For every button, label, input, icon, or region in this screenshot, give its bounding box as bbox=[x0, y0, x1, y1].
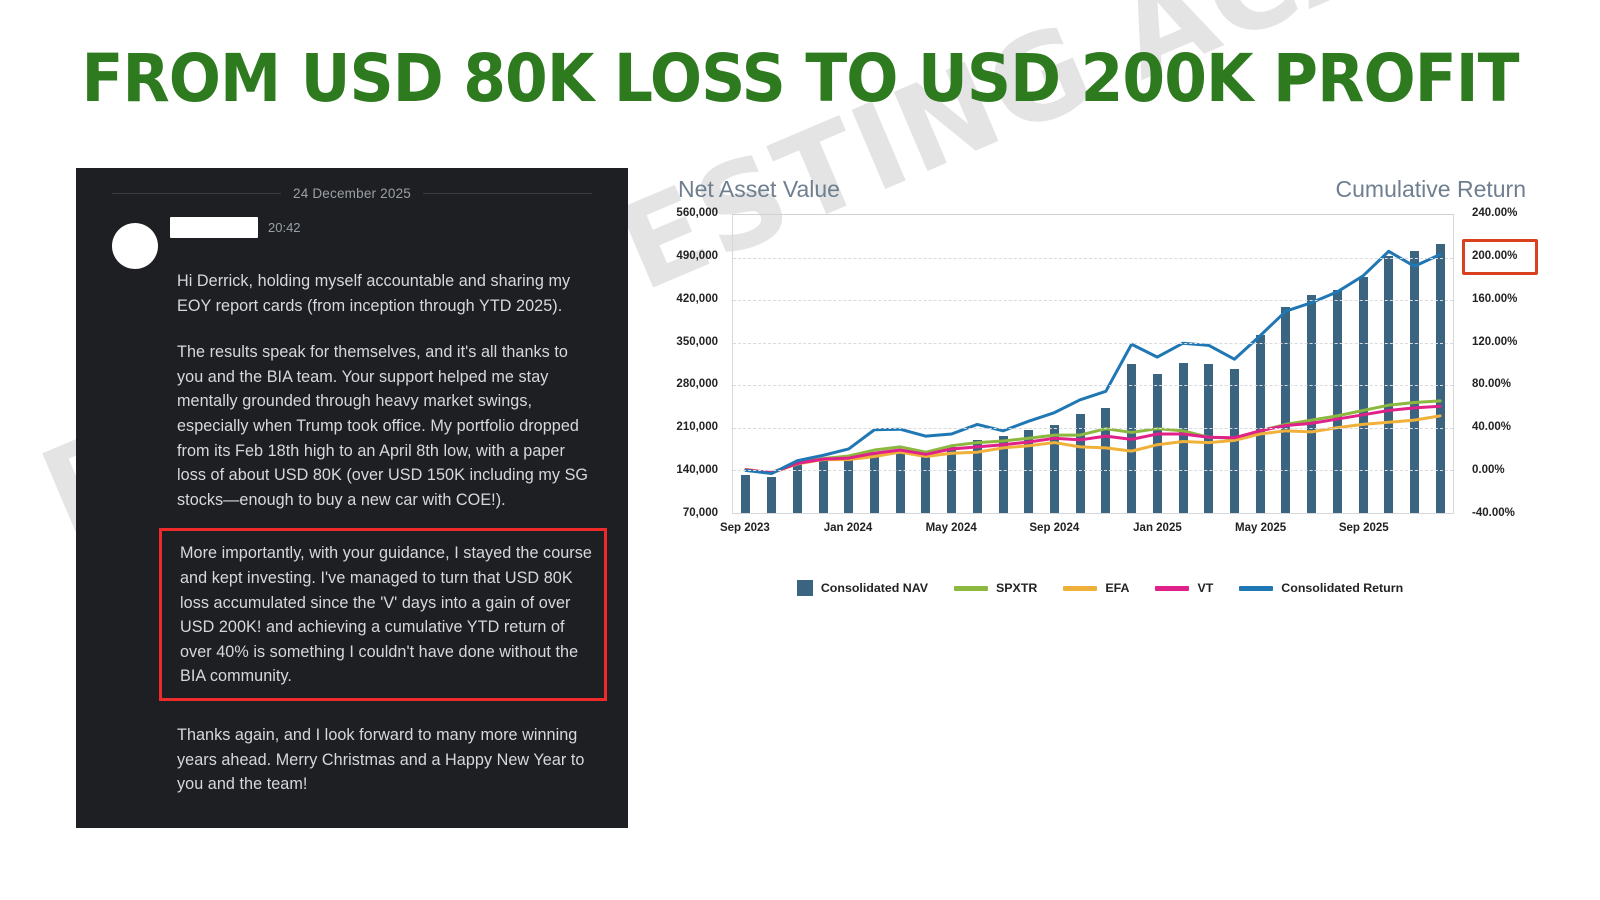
right-axis-ticks: -40.00%0.00%40.00%80.00%120.00%160.00%20… bbox=[1462, 214, 1540, 514]
right-axis-tick: 80.00% bbox=[1472, 378, 1511, 390]
legend-swatch-icon bbox=[1063, 586, 1097, 591]
x-axis-tick: May 2025 bbox=[1235, 522, 1286, 534]
legend-label: Consolidated Return bbox=[1281, 581, 1403, 595]
left-axis-tick: 490,000 bbox=[676, 250, 718, 262]
series-line-efa bbox=[746, 416, 1440, 473]
date-divider: 24 December 2025 bbox=[112, 186, 592, 201]
right-axis-tick: 40.00% bbox=[1472, 421, 1511, 433]
gridline bbox=[733, 470, 1453, 471]
legend-swatch-icon bbox=[1155, 586, 1189, 591]
x-axis-tick: May 2024 bbox=[926, 522, 977, 534]
x-axis-tick: Sep 2024 bbox=[1029, 522, 1079, 534]
x-axis-tick: Jan 2025 bbox=[1133, 522, 1182, 534]
legend-label: Consolidated NAV bbox=[821, 581, 928, 595]
message-paragraph-1: Hi Derrick, holding myself accountable a… bbox=[177, 269, 589, 318]
series-line-consolidated-return bbox=[746, 251, 1440, 473]
avatar bbox=[112, 223, 158, 269]
sender-name-redacted bbox=[170, 217, 258, 238]
left-axis-tick: 280,000 bbox=[676, 378, 718, 390]
gridline bbox=[733, 343, 1453, 344]
x-axis-tick: Sep 2025 bbox=[1339, 522, 1389, 534]
highlighted-paragraph-text: More importantly, with your guidance, I … bbox=[180, 541, 594, 689]
legend-swatch-icon bbox=[954, 586, 988, 591]
plot-wrapper: 70,000140,000210,000280,000350,000420,00… bbox=[660, 214, 1540, 544]
left-axis-tick: 560,000 bbox=[676, 207, 718, 219]
plot-area bbox=[732, 214, 1454, 514]
page-title: FROM USD 80K LOSS TO USD 200K PROFIT bbox=[56, 44, 1544, 114]
chart-legend: Consolidated NAVSPXTREFAVTConsolidated R… bbox=[660, 580, 1540, 596]
gridline bbox=[733, 385, 1453, 386]
right-axis-tick: 0.00% bbox=[1472, 464, 1505, 476]
sender-line: 20:42 bbox=[170, 215, 301, 238]
chart-card: Net Asset Value Cumulative Return 70,000… bbox=[660, 160, 1540, 630]
gridline bbox=[733, 258, 1453, 259]
right-axis-tick: 120.00% bbox=[1472, 336, 1517, 348]
legend-swatch-icon bbox=[1239, 586, 1273, 591]
left-axis-tick: 210,000 bbox=[676, 421, 718, 433]
divider-rule-left bbox=[112, 193, 281, 194]
legend-label: SPXTR bbox=[996, 581, 1037, 595]
message-paragraph-2: The results speak for themselves, and it… bbox=[177, 340, 589, 512]
legend-item[interactable]: VT bbox=[1155, 581, 1213, 595]
right-axis-tick: 200.00% bbox=[1472, 250, 1517, 262]
legend-item[interactable]: Consolidated Return bbox=[1239, 581, 1403, 595]
chart-axis-titles: Net Asset Value Cumulative Return bbox=[660, 160, 1540, 204]
lines-layer bbox=[733, 215, 1453, 514]
legend-swatch-icon bbox=[797, 580, 813, 596]
legend-item[interactable]: EFA bbox=[1063, 581, 1129, 595]
legend-label: VT bbox=[1197, 581, 1213, 595]
legend-item[interactable]: SPXTR bbox=[954, 581, 1037, 595]
left-axis-ticks: 70,000140,000210,000280,000350,000420,00… bbox=[660, 214, 726, 514]
message-header: 20:42 bbox=[112, 215, 628, 269]
left-axis-tick: 420,000 bbox=[676, 293, 718, 305]
chat-message-card: 24 December 2025 20:42 Hi Derrick, holdi… bbox=[76, 168, 628, 828]
right-axis-tick: -40.00% bbox=[1472, 507, 1515, 519]
highlighted-paragraph-box: More importantly, with your guidance, I … bbox=[159, 528, 607, 701]
legend-item[interactable]: Consolidated NAV bbox=[797, 580, 928, 596]
x-axis-ticks: Sep 2023Jan 2024May 2024Sep 2024Jan 2025… bbox=[732, 518, 1454, 542]
gridline bbox=[733, 428, 1453, 429]
legend-label: EFA bbox=[1105, 581, 1129, 595]
left-axis-tick: 70,000 bbox=[683, 507, 718, 519]
message-closing-paragraph: Thanks again, and I look forward to many… bbox=[177, 723, 589, 797]
left-axis-tick: 350,000 bbox=[676, 336, 718, 348]
message-body: Hi Derrick, holding myself accountable a… bbox=[177, 269, 589, 797]
left-axis-tick: 140,000 bbox=[676, 464, 718, 476]
left-axis-title: Net Asset Value bbox=[678, 176, 840, 203]
date-divider-label: 24 December 2025 bbox=[293, 186, 411, 201]
right-axis-tick: 240.00% bbox=[1472, 207, 1517, 219]
divider-rule-right bbox=[423, 193, 592, 194]
right-axis-title: Cumulative Return bbox=[1336, 176, 1526, 203]
x-axis-tick: Sep 2023 bbox=[720, 522, 770, 534]
right-axis-tick: 160.00% bbox=[1472, 293, 1517, 305]
x-axis-tick: Jan 2024 bbox=[824, 522, 873, 534]
message-timestamp: 20:42 bbox=[268, 220, 301, 235]
gridline bbox=[733, 300, 1453, 301]
